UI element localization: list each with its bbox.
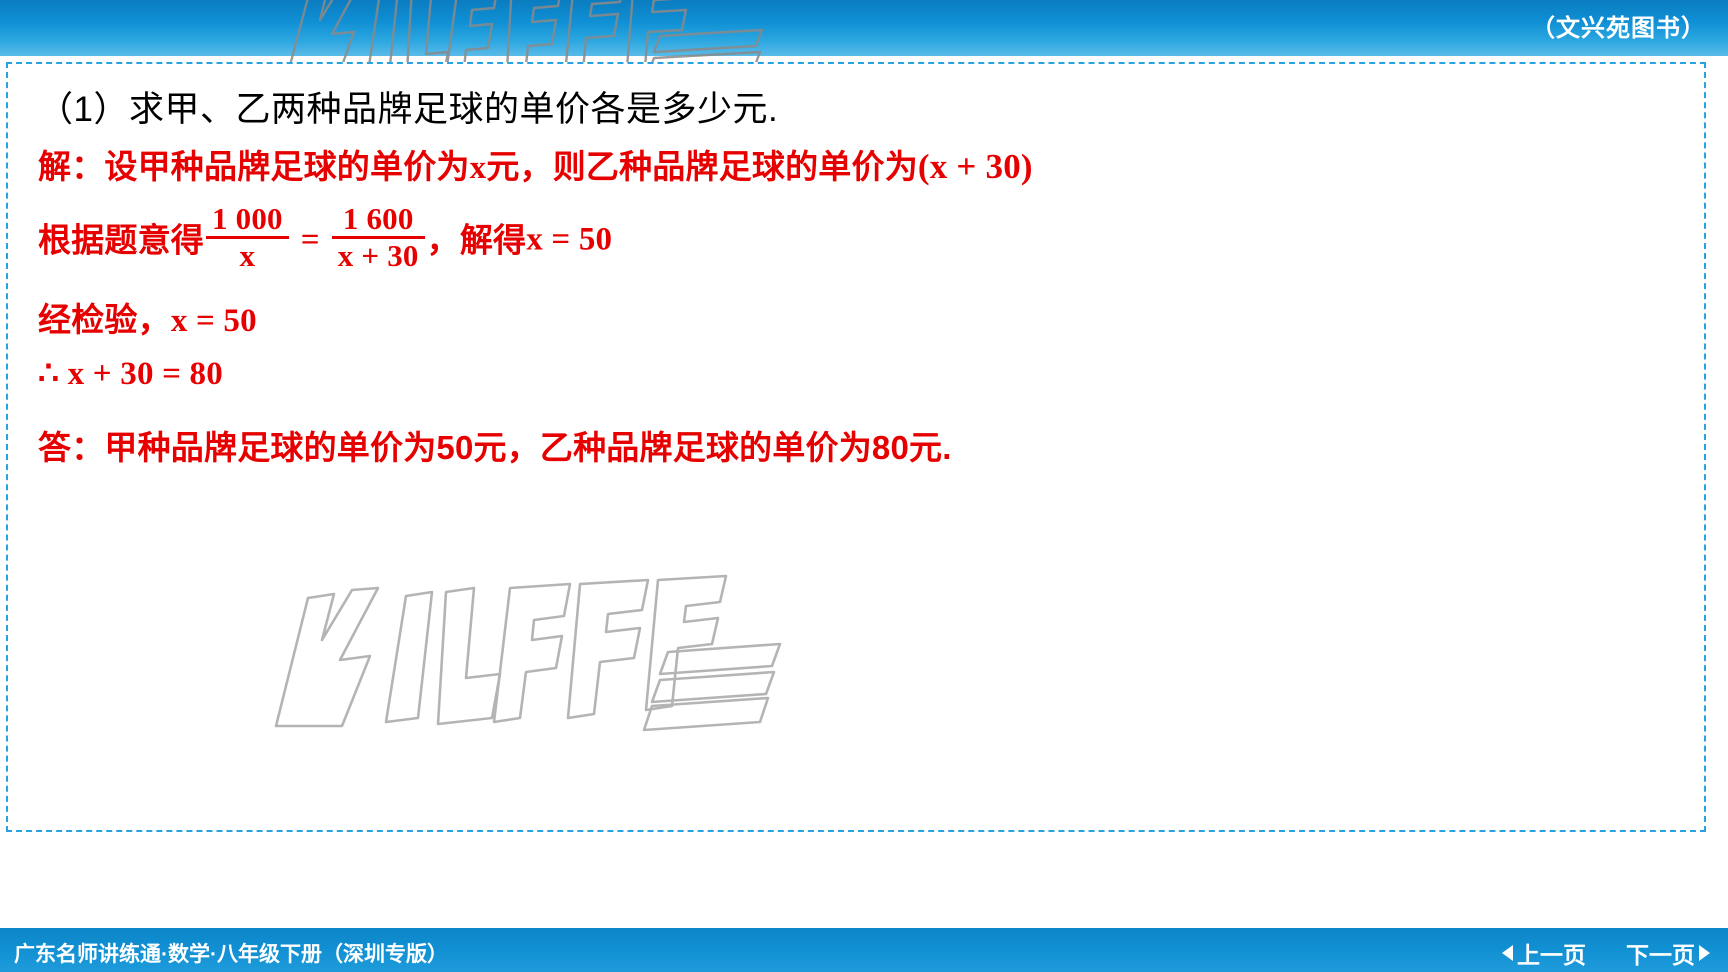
solution-line-1: 解：设甲种品牌足球的单价为x元，则乙种品牌足球的单价为(x + 30)	[38, 149, 1684, 185]
equation-result: x = 50	[526, 222, 612, 258]
chevron-right-icon	[1699, 945, 1710, 961]
solution-line-2: 根据题意得1 000x=1 600x + 30，解得x = 50	[38, 205, 1684, 275]
solution-line-1-prefix: 解：设甲种品牌足球的单价为	[38, 148, 470, 185]
footer-book-title: 广东名师讲练通·数学·八年级下册（深圳专版）	[14, 938, 448, 968]
verification-label: 经检验，	[38, 301, 171, 338]
next-page-button[interactable]: 下一页	[1626, 936, 1710, 970]
solution-line-3: 经检验，x = 50	[38, 303, 1684, 338]
fraction-right-denominator: x + 30	[332, 239, 425, 274]
solution-line-1-variable: x	[470, 150, 487, 186]
slide-content-area: （1）求甲、乙两种品牌足球的单价各是多少元. 解：设甲种品牌足球的单价为x元，则…	[6, 62, 1706, 832]
publisher-brand: （文兴苑图书）	[1531, 8, 1706, 43]
verification-value: x = 50	[171, 303, 257, 339]
answer-line: 答：甲种品牌足球的单价为50元，乙种品牌足球的单价为80元.	[38, 431, 1684, 464]
solution-line-1-middle: 元，则乙种品牌足球的单价为	[486, 148, 918, 185]
fraction-right-numerator: 1 600	[332, 203, 425, 239]
fraction-right: 1 600x + 30	[332, 203, 425, 273]
page-header: （文兴苑图书）	[0, 0, 1728, 56]
watermark-logo-middle	[256, 556, 786, 736]
fraction-left-numerator: 1 000	[206, 203, 289, 239]
chevron-left-icon	[1502, 945, 1513, 961]
page-footer: 广东名师讲练通·数学·八年级下册（深圳专版） 上一页 下一页	[0, 928, 1728, 972]
solution-text-block: （1）求甲、乙两种品牌足球的单价各是多少元. 解：设甲种品牌足球的单价为x元，则…	[38, 86, 1684, 484]
solution-line-4: ∴ x + 30 = 80	[38, 358, 1684, 391]
page-navigation: 上一页 下一页	[1502, 936, 1710, 970]
question-line: （1）求甲、乙两种品牌足球的单价各是多少元.	[38, 92, 1684, 127]
next-page-label: 下一页	[1626, 936, 1695, 970]
equation-prefix: 根据题意得	[38, 222, 204, 259]
solution-line-1-expression: (x + 30)	[918, 147, 1033, 186]
fraction-left-denominator: x	[206, 239, 289, 274]
prev-page-label: 上一页	[1517, 936, 1586, 970]
equals-sign: =	[291, 222, 330, 258]
equation-comma: ，	[427, 222, 460, 259]
equation-solve-label: 解得	[460, 222, 526, 259]
prev-page-button[interactable]: 上一页	[1502, 936, 1586, 970]
fraction-left: 1 000x	[206, 203, 289, 273]
